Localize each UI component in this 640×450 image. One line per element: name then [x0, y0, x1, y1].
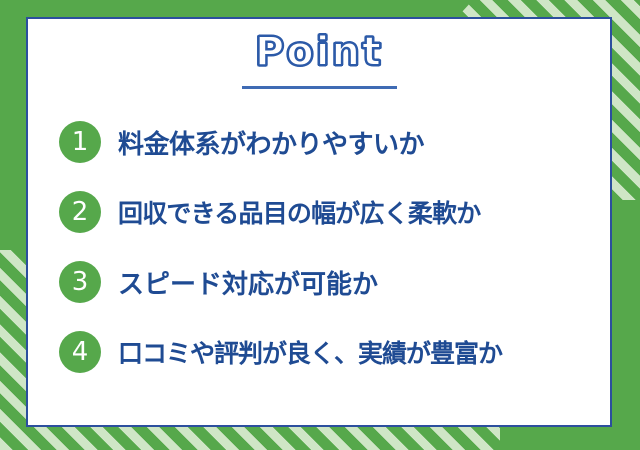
list-item: 1 料金体系がわかりやすいか [59, 107, 610, 177]
number-badge-1: 1 [59, 121, 101, 163]
number-badge-4: 4 [59, 331, 101, 373]
list-item-label-4: 口コミや評判が良く、実績が豊富か [118, 334, 502, 370]
list-item: 4 口コミや評判が良く、実績が豊富か [59, 317, 610, 387]
diagonal-stripes-bottom-band [0, 424, 500, 450]
page-title: Point [255, 31, 383, 73]
list-item: 3 スピード対応が可能か [59, 247, 610, 317]
title-section: Point [28, 31, 610, 89]
list-item-label-2: 回収できる品目の幅が広く柔軟か [118, 194, 481, 230]
point-card: Point 1 料金体系がわかりやすいか 2 回収できる品目の幅が広く柔軟か 3… [26, 17, 612, 427]
number-badge-3: 3 [59, 261, 101, 303]
title-underline-divider [242, 86, 397, 89]
number-badge-2: 2 [59, 191, 101, 233]
infographic-root: Point 1 料金体系がわかりやすいか 2 回収できる品目の幅が広く柔軟か 3… [0, 0, 640, 450]
list-item-label-1: 料金体系がわかりやすいか [118, 124, 424, 161]
list-item: 2 回収できる品目の幅が広く柔軟か [59, 177, 610, 247]
list-item-label-3: スピード対応が可能か [118, 264, 378, 301]
point-list: 1 料金体系がわかりやすいか 2 回収できる品目の幅が広く柔軟か 3 スピード対… [28, 107, 610, 387]
